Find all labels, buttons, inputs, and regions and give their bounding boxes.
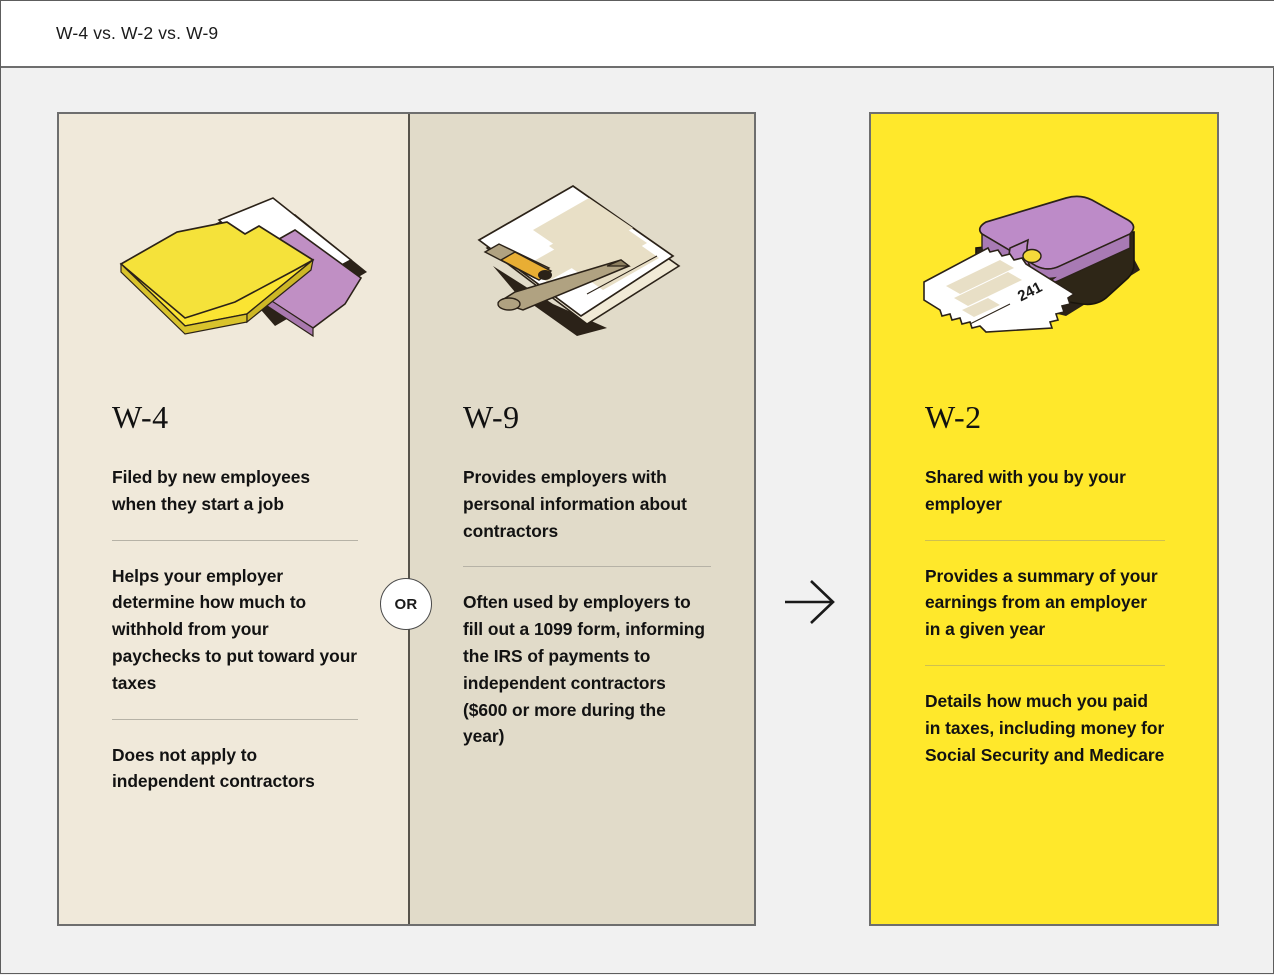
wallet-with-receipt-icon: 241 <box>871 174 1217 414</box>
content-w4: W-4 Filed by new employees when they sta… <box>112 401 358 795</box>
form-title-w9: W-9 <box>463 401 711 433</box>
page-title: W-4 vs. W-2 vs. W-9 <box>56 23 218 44</box>
page-header: W-4 vs. W-2 vs. W-9 <box>1 1 1274 68</box>
divider <box>925 665 1165 666</box>
fact-item: Provides employers with personal informa… <box>463 464 711 544</box>
content-w9: W-9 Provides employers with personal inf… <box>463 401 711 750</box>
arrow-right-icon <box>781 572 841 632</box>
infographic-page: W-4 vs. W-2 vs. W-9 <box>0 0 1274 974</box>
fact-item: Filed by new employees when they start a… <box>112 464 358 518</box>
panel-w2: 241 W-2 Shared with you by your employer… <box>869 112 1219 926</box>
divider <box>112 540 358 541</box>
fact-item: Does not apply to independent contractor… <box>112 742 358 796</box>
file-folders-icon <box>59 174 408 414</box>
document-and-pen-icon <box>410 174 754 414</box>
panel-w4: W-4 Filed by new employees when they sta… <box>59 114 408 924</box>
fact-item: Often used by employers to fill out a 10… <box>463 589 711 750</box>
panel-w9: W-9 Provides employers with personal inf… <box>408 114 754 924</box>
diagram-canvas: W-4 Filed by new employees when they sta… <box>1 70 1274 975</box>
fact-item: Helps your employer determine how much t… <box>112 563 358 697</box>
form-title-w2: W-2 <box>925 401 1165 433</box>
forms-comparison-card: W-4 Filed by new employees when they sta… <box>57 112 756 926</box>
fact-item: Shared with you by your employer <box>925 464 1165 518</box>
divider <box>925 540 1165 541</box>
fact-item: Provides a summary of your earnings from… <box>925 563 1165 643</box>
content-w2: W-2 Shared with you by your employer Pro… <box>925 401 1165 768</box>
fact-item: Details how much you paid in taxes, incl… <box>925 688 1165 768</box>
or-badge: OR <box>380 578 432 630</box>
form-title-w4: W-4 <box>112 401 358 433</box>
divider <box>463 566 711 567</box>
divider <box>112 719 358 720</box>
